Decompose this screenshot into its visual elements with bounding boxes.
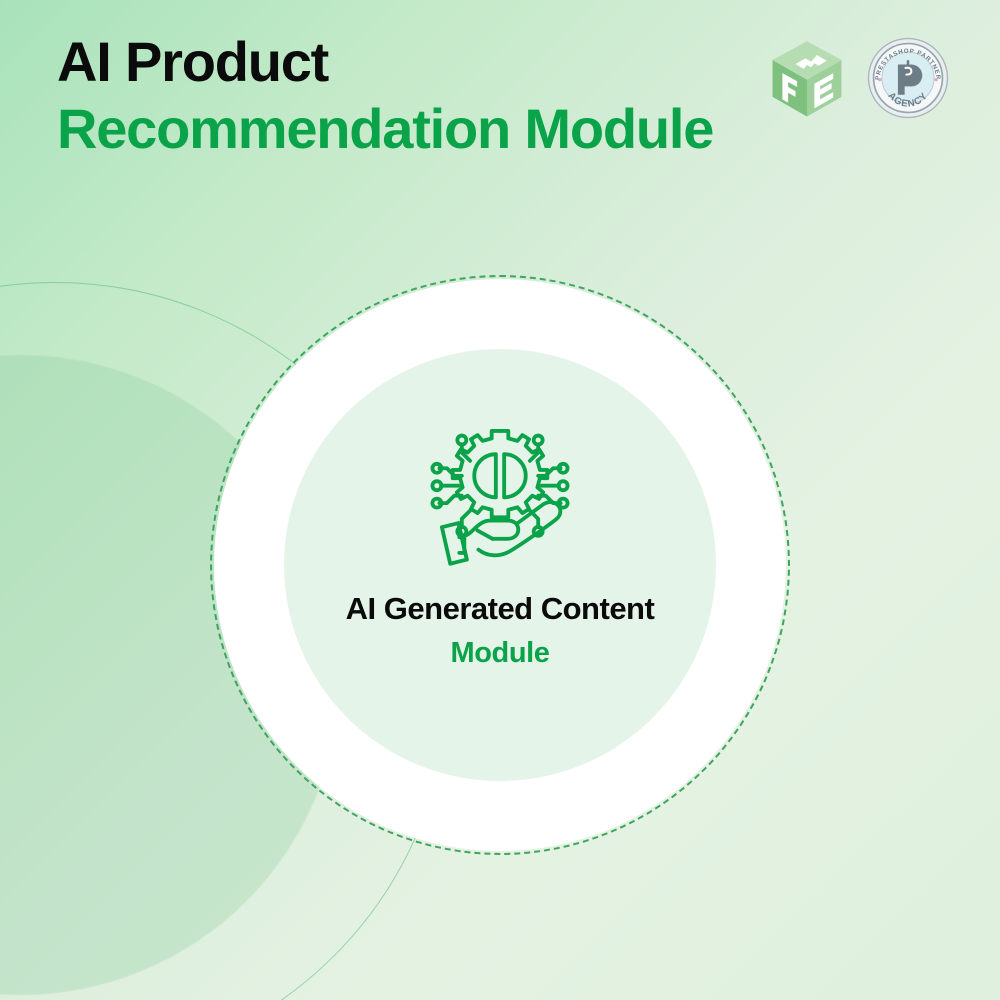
ai-gear-in-hand-icon: [417, 411, 583, 577]
banner-header: AI Product Recommendation Module: [0, 0, 1000, 200]
fme-cube-icon: [766, 37, 848, 119]
promo-banner: AI Product Recommendation Module: [0, 0, 1000, 1000]
banner-title: AI Product Recommendation Module: [57, 33, 713, 157]
logo-row: PRESTASHOP PARTNER AGENCY: [766, 36, 950, 120]
card-title: AI Generated Content: [346, 591, 655, 627]
title-line-primary: AI Product: [57, 33, 713, 90]
module-medallion: AI Generated Content Module: [210, 275, 790, 855]
card-subtitle: Module: [450, 637, 549, 670]
prestashop-partner-agency-icon: PRESTASHOP PARTNER AGENCY: [866, 36, 950, 120]
title-line-secondary: Recommendation Module: [57, 100, 713, 157]
medallion-inner-disc: AI Generated Content Module: [284, 349, 716, 781]
